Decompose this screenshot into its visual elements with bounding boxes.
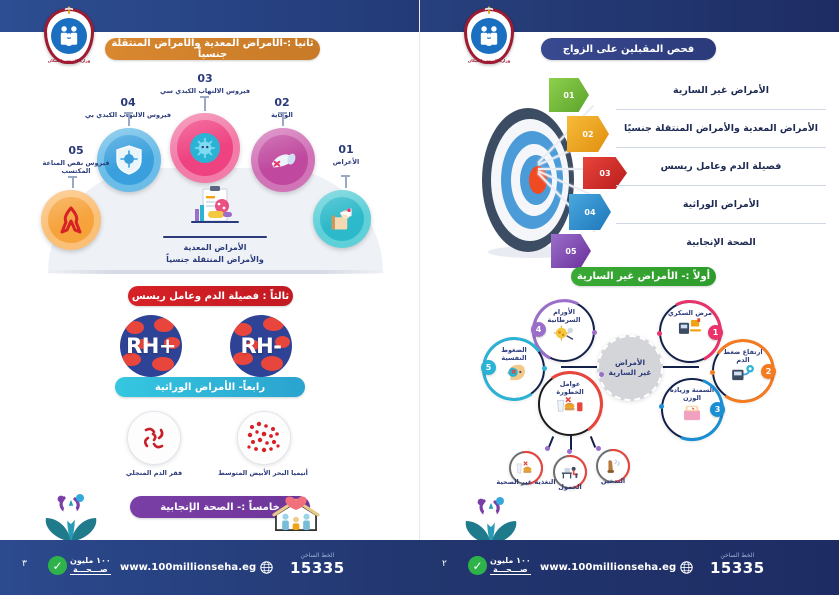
node-dot: [657, 331, 662, 336]
chevron-01[interactable]: 01: [549, 78, 589, 112]
bubble-02-prevention[interactable]: [251, 128, 315, 192]
lab-report-icon: [186, 185, 244, 231]
node-dot: [599, 372, 604, 377]
chevron-04-number: 04: [584, 208, 595, 217]
node-dot: [710, 370, 715, 375]
hotline-label: الخط الساخن: [710, 552, 765, 559]
bubble-02-stem: [282, 112, 284, 126]
list-item-02[interactable]: الأمراض المعدية والأمراض المنتقلة جنسيًا: [610, 110, 832, 147]
ncd-node-hypertension-badge: 2: [761, 364, 776, 379]
connector-right: [663, 366, 699, 368]
dome-center-block: الأمراض المعدية والأمراض المنتقلة جنسياً: [150, 185, 280, 266]
ministry-logo-right: وزارة الصحة والسكان: [460, 4, 518, 68]
branch-dot-3: [596, 446, 601, 451]
dome-title-line1: الأمراض المعدية: [150, 242, 280, 254]
campaign-line1: ١٠٠ مليون: [490, 556, 531, 565]
footer-campaign-right: ١٠٠ مليون صـــحـــة ✓: [468, 556, 531, 575]
bubble-03-label: فيروس الالتهاب الكبدي سي: [160, 87, 250, 95]
bubble-01-stem: [345, 175, 347, 188]
bubble-04-number: 04: [82, 96, 174, 110]
ncd-section-banner: أولاً :- الأمراض غير السارية: [571, 267, 716, 286]
genetic-section-banner: رابعاً- الأمراض الوراثية: [115, 377, 305, 397]
node-dot: [592, 330, 597, 335]
dome-title-line2: والأمراض المنتقلة جنسياً: [150, 254, 280, 266]
ministry-logo-left: وزارة الصحة والسكان: [40, 4, 98, 68]
bubble-05-label: فيروس نقص المناعة المكتسب: [43, 159, 110, 175]
sickle-cell-circle: [127, 411, 181, 465]
dome-underline: [163, 236, 267, 238]
ncd-center-node: الأمراض غير السارية: [597, 335, 663, 401]
infographic-page: وزارة الصحة والسكان وزارة الصحة والسكان …: [0, 0, 839, 595]
campaign-line2: صـــحـــة: [70, 565, 111, 575]
bubble-03-number: 03: [159, 72, 251, 86]
footer-right: الخط الساخن 15335 www.100millionseha.eg …: [420, 540, 839, 595]
footer-campaign-left: ١٠٠ مليون صـــحـــة ✓: [48, 556, 111, 575]
list-item-04[interactable]: الأمراض الوراثية: [610, 186, 832, 223]
eagle-emblem-icon: [62, 5, 76, 19]
list-item-05[interactable]: الصحة الإنجابية: [610, 224, 832, 261]
bubble-03-label-block: 03 فيروس الالتهاب الكبدي سي: [159, 72, 251, 95]
campaign-text: ١٠٠ مليون صـــحـــة: [490, 556, 531, 575]
family-house-heart-icon: [272, 490, 320, 532]
logo-ribbon-text: وزارة الصحة والسكان: [462, 53, 516, 69]
ncd-center-line2: غير السارية: [609, 368, 652, 378]
hotline-number: 15335: [290, 559, 345, 577]
ncd-node-stress[interactable]: الضغوط النفسية 5: [483, 338, 545, 400]
chevron-04[interactable]: 04: [569, 194, 611, 230]
bubble-05-stem: [72, 176, 74, 188]
ncd-node-obesity-badge: 3: [710, 402, 725, 417]
bubble-05-number: 05: [30, 144, 122, 158]
thalassemia-caption: أنيميا البحر الأبيض المتوسط: [208, 469, 318, 477]
branch-3: [590, 436, 596, 448]
green-check-icon: ✓: [48, 556, 67, 575]
footer-bar: الخط الساخن 15335 www.100millionseha.eg …: [0, 540, 839, 595]
virus-icon: [190, 133, 220, 163]
page-divider: [419, 0, 420, 540]
bubble-05-hiv[interactable]: [41, 190, 101, 250]
sickle-cell-icon: [137, 421, 171, 455]
rh-positive-badge: RH+: [120, 315, 182, 377]
dome-base-line: [44, 270, 387, 274]
bubble-05-label-block: 05 فيروس نقص المناعة المكتسب: [30, 144, 122, 175]
ncd-node-cancer-badge: 4: [531, 322, 546, 337]
list-item-01[interactable]: الأمراض غير السارية: [610, 72, 832, 109]
hotline-label: الخط الساخن: [290, 552, 345, 559]
bubble-01-label: الأعراض: [333, 158, 360, 166]
chevron-02-number: 02: [582, 130, 593, 139]
node-dot: [542, 366, 547, 371]
ncd-node-obesity[interactable]: السمنة وزيادة الوزن 3: [661, 378, 723, 440]
branch-dot-2: [567, 449, 572, 454]
rh-negative-label: RH-: [241, 334, 282, 358]
ncd-node-risk-factors[interactable]: عوامل الخطورة: [538, 372, 602, 436]
branch-2: [570, 436, 572, 450]
chevron-03-number: 03: [599, 169, 610, 178]
ncd-node-hypertension[interactable]: ارتفاع ضغط الدم 2: [712, 340, 774, 402]
campaign-line1: ١٠٠ مليون: [70, 556, 111, 565]
footer-website-left[interactable]: www.100millionseha.eg: [120, 561, 273, 574]
globe-icon: [260, 561, 273, 574]
left-section-banner-infectious: ثانياً :-الأمراض المعدية والأمراض المنتق…: [105, 38, 320, 60]
page-number-left: ٣: [22, 559, 27, 569]
screening-items-list: الأمراض غير السارية الأمراض المعدية والأ…: [610, 72, 832, 261]
list-item-03[interactable]: فصيلة الدم وعامل ريسس: [610, 148, 832, 185]
bubble-02-number: 02: [236, 96, 328, 110]
node-dot: [659, 404, 664, 409]
ncd-node-diabetes[interactable]: مرض السكري 1: [659, 301, 721, 363]
website-text: www.100millionseha.eg: [120, 562, 256, 573]
sick-person-icon: [328, 205, 356, 233]
rh-negative-badge: RH-: [230, 315, 292, 377]
chevron-05-number: 05: [565, 247, 576, 256]
bubble-03-hepatitis-c[interactable]: [170, 113, 240, 183]
footer-website-right[interactable]: www.100millionseha.eg: [540, 561, 693, 574]
family-emblem-icon: [478, 24, 500, 48]
website-text: www.100millionseha.eg: [540, 562, 676, 573]
chevron-02[interactable]: 02: [567, 116, 609, 152]
shield-virus-icon: [115, 145, 143, 175]
thalassemia-circle: [237, 411, 291, 465]
bubble-04-stem: [128, 112, 130, 126]
globe-icon: [680, 561, 693, 574]
right-page-banner: فحص المقبلين على الزواج: [541, 38, 716, 60]
eagle-emblem-icon: [482, 5, 496, 19]
chevron-05[interactable]: 05: [551, 234, 591, 268]
ncd-node-diabetes-badge: 1: [708, 325, 723, 340]
connector-left: [561, 366, 597, 368]
bubble-01-symptoms[interactable]: [313, 190, 371, 248]
thalassemia-cells-icon: [244, 418, 284, 458]
branch-dot-1: [545, 446, 550, 451]
campaign-text: ١٠٠ مليون صـــحـــة: [70, 556, 111, 575]
risk-smoking-caption: التدخين: [568, 477, 658, 485]
family-emblem-icon: [58, 24, 80, 48]
campaign-line2: صـــحـــة: [490, 565, 531, 575]
rh-positive-label: RH+: [126, 334, 176, 358]
condom-protection-icon: [268, 145, 298, 175]
footer-left: الخط الساخن 15335 www.100millionseha.eg …: [0, 540, 419, 595]
blood-section-banner: ثالثاً : فصيلة الدم وعامل ريسس: [128, 286, 293, 306]
bubble-03-stem: [204, 96, 206, 111]
chevron-01-number: 01: [563, 91, 574, 100]
green-check-icon: ✓: [468, 556, 487, 575]
page-number-right: ٢: [442, 559, 447, 569]
ncd-node-stress-badge: 5: [481, 360, 496, 375]
hotline-number: 15335: [710, 559, 765, 577]
footer-hotline-right: الخط الساخن 15335: [710, 552, 765, 577]
ncd-center-line1: الأمراض: [615, 358, 645, 368]
footer-hotline-left: الخط الساخن 15335: [290, 552, 345, 577]
sickle-cell-caption: فقر الدم المنجلي: [99, 469, 209, 477]
red-ribbon-icon: [59, 206, 83, 234]
logo-ribbon-text: وزارة الصحة والسكان: [42, 53, 96, 69]
